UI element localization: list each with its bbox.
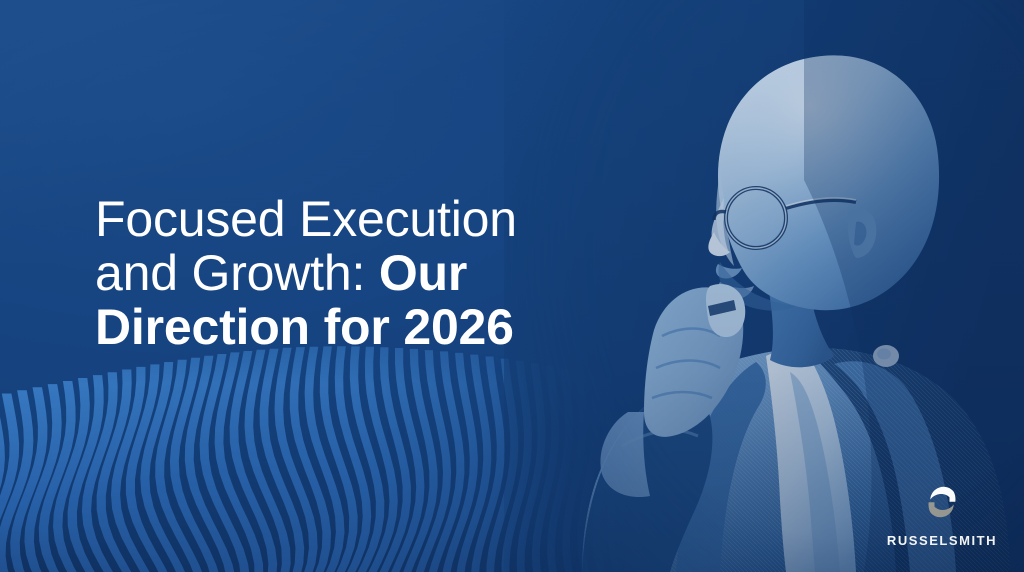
headline-line-3-bold: Direction for 2026 xyxy=(95,299,514,355)
page-title: Focused Execution and Growth: Our Direct… xyxy=(95,192,565,354)
headline-line-2-bold: Our xyxy=(379,245,467,301)
headline-line-2-light: and Growth: xyxy=(95,245,379,301)
brand-logo: RUSSELSMITH xyxy=(884,478,1000,548)
hero-banner: Focused Execution and Growth: Our Direct… xyxy=(0,0,1024,572)
brand-wordmark: RUSSELSMITH xyxy=(887,533,997,548)
headline-line-1: Focused Execution xyxy=(95,191,517,247)
russelsmith-mark-icon xyxy=(918,478,966,526)
